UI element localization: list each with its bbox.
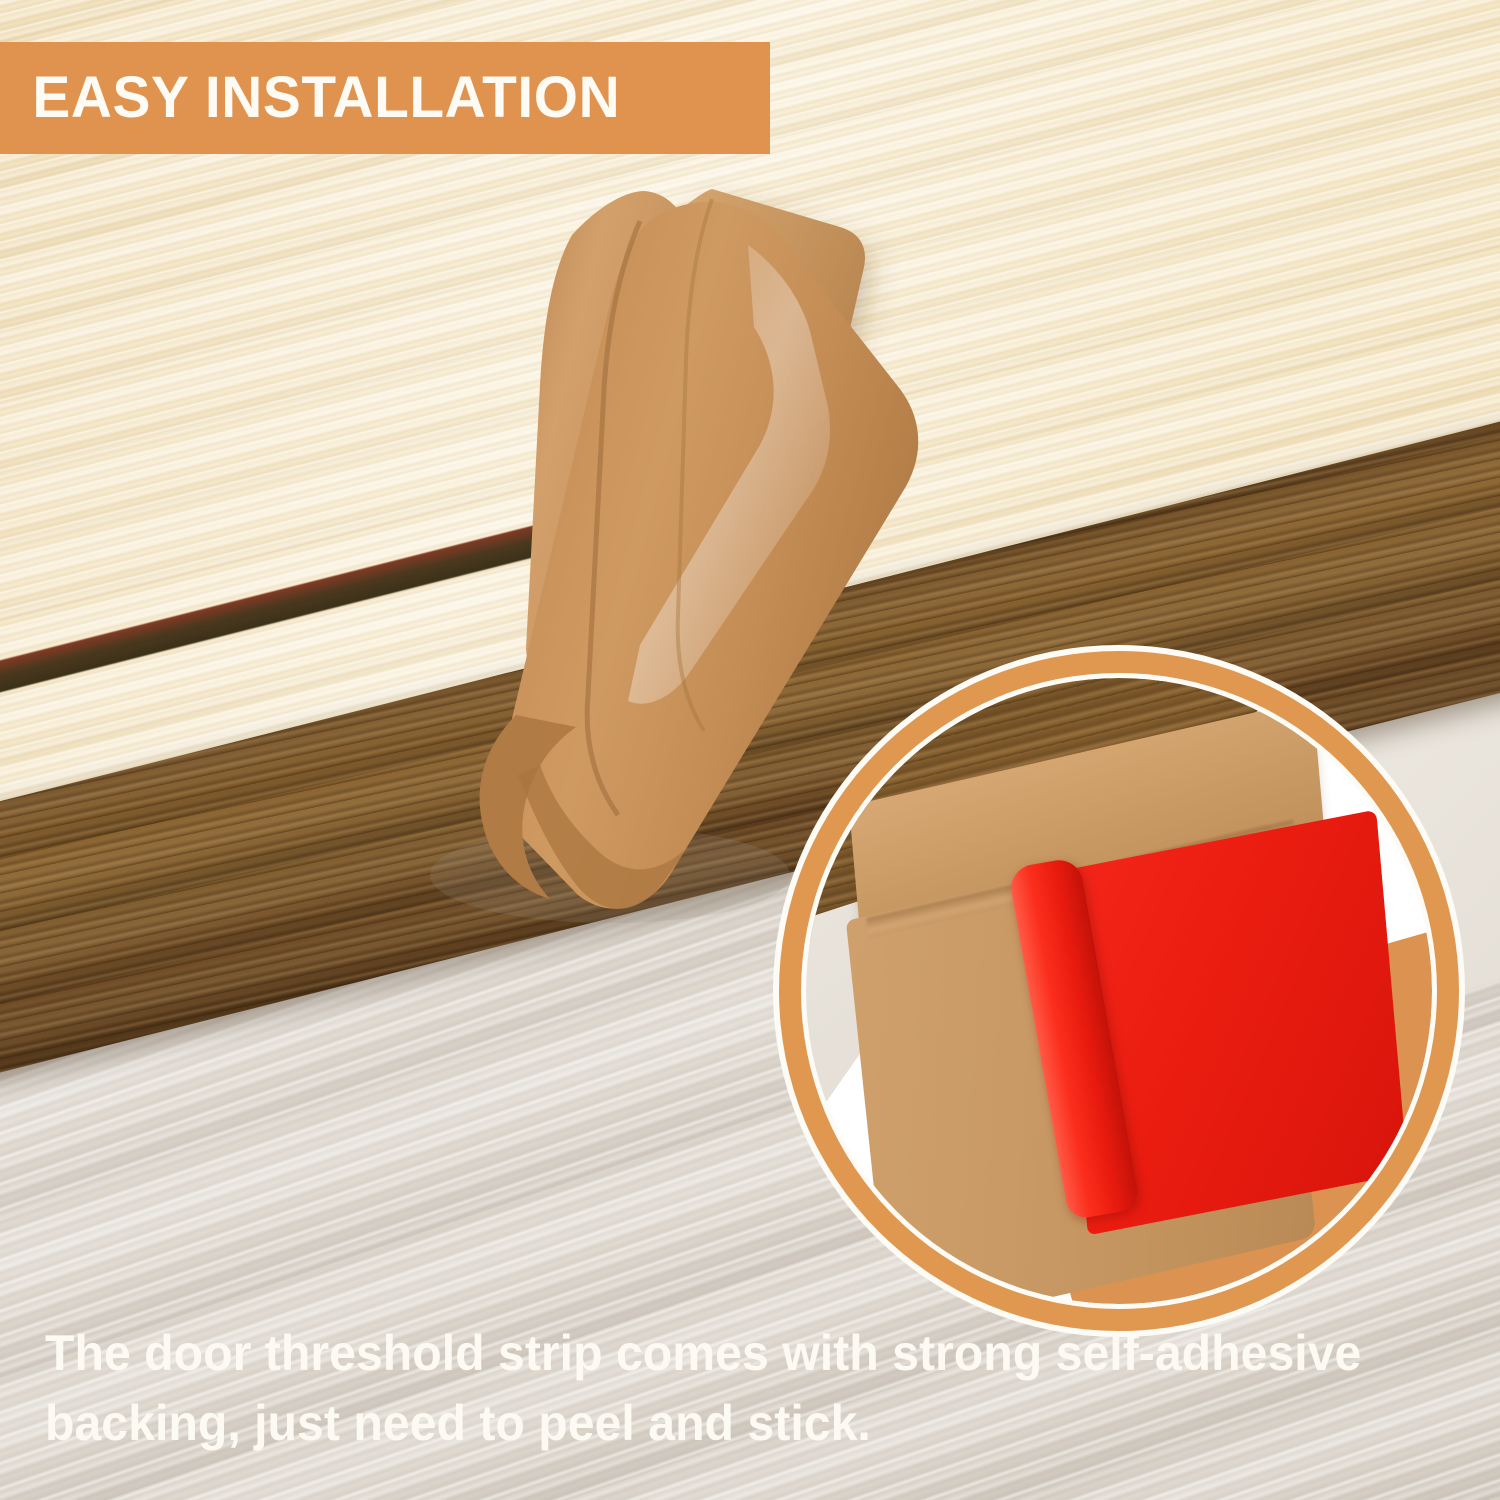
caption-line-1: The door threshold strip comes with stro… <box>45 1318 1415 1388</box>
caption-block: The door threshold strip comes with stro… <box>45 1318 1415 1458</box>
product-image-canvas: EASY INSTALLATION The door threshold str… <box>0 0 1500 1500</box>
detail-inset-circle <box>806 678 1432 1304</box>
detail-inset-photo <box>806 678 1432 1304</box>
headline-banner: EASY INSTALLATION <box>0 42 770 154</box>
caption-line-2: backing, just need to peel and stick. <box>45 1388 1415 1458</box>
headline-text: EASY INSTALLATION <box>0 69 620 127</box>
